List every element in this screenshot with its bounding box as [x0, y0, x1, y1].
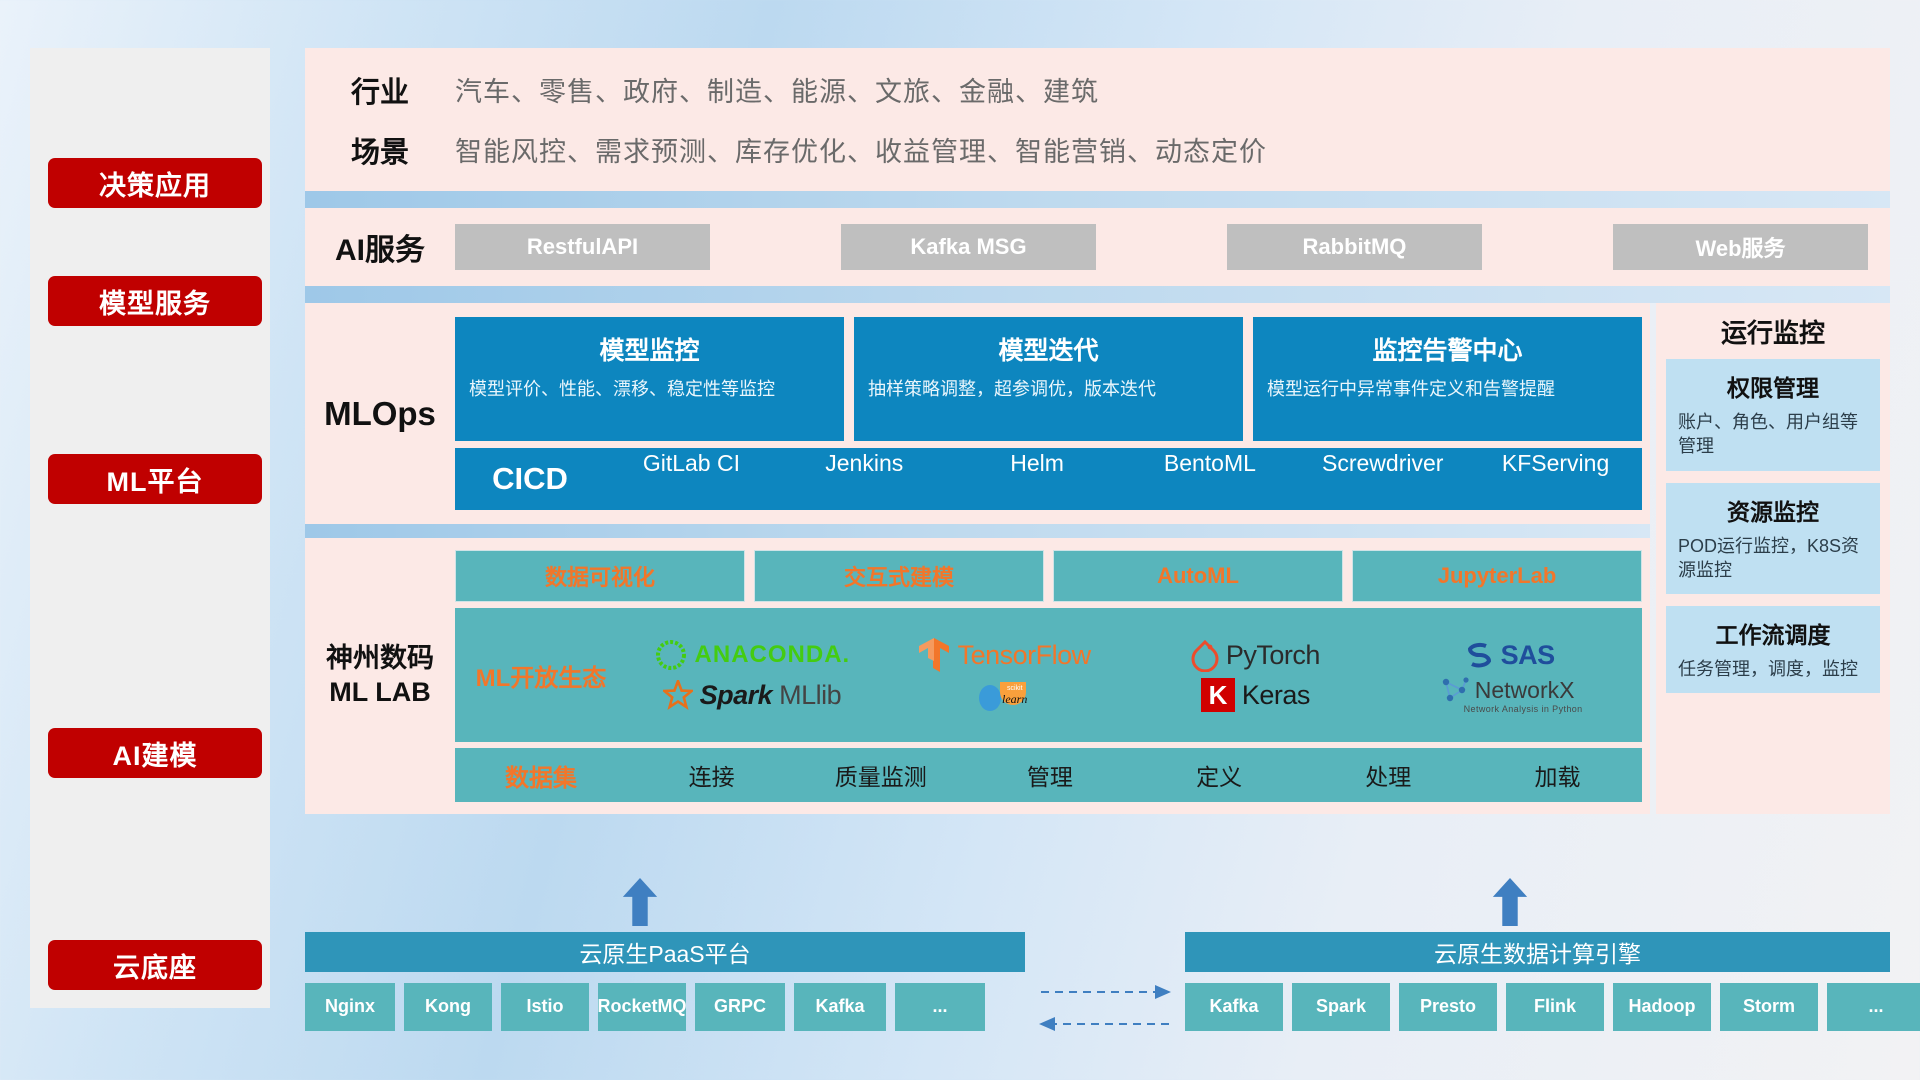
btn-label: RestfulAPI [527, 234, 638, 260]
ai-service-band: AI服务 RestfulAPI Kafka MSG RabbitMQ Web服务 [305, 208, 1890, 286]
svg-text:K: K [1208, 680, 1227, 710]
tensorflow-text: TensorFlow [958, 640, 1091, 671]
dataset-item-manage[interactable]: 管理 [965, 758, 1134, 792]
chip-spark[interactable]: Spark [1292, 983, 1390, 1031]
tab-label: AutoML [1157, 563, 1239, 589]
divider-blue-2 [305, 286, 1890, 303]
chip-kafka[interactable]: Kafka [794, 983, 886, 1031]
dataset-item-connect[interactable]: 连接 [627, 758, 796, 792]
svg-text:learn: learn [1002, 692, 1027, 706]
rail-ml-platform[interactable]: ML平台 [48, 454, 262, 504]
tab-jupyterlab[interactable]: JupyterLab [1352, 550, 1642, 602]
ml-lab-tabs: 数据可视化 交互式建模 AutoML JupyterLab [455, 550, 1642, 602]
industry-values: 汽车、零售、政府、制造、能源、文旅、金融、建筑 [455, 70, 1099, 109]
chip-istio[interactable]: Istio [501, 983, 589, 1031]
btn-label: Kafka MSG [910, 234, 1026, 260]
mlops-label: MLOps [305, 395, 455, 433]
card-desc: POD运行监控，K8S资源监控 [1678, 534, 1868, 583]
ai-service-kafka-msg[interactable]: Kafka MSG [841, 224, 1096, 270]
card-title: 监控告警中心 [1267, 331, 1628, 367]
bar-label: 云原生数据计算引擎 [1434, 935, 1641, 969]
card-title: 模型迭代 [868, 331, 1229, 367]
chip-label: Istio [526, 997, 563, 1017]
sas-logo: SAS [1460, 640, 1555, 671]
rail-model-service[interactable]: 模型服务 [48, 276, 262, 326]
card-desc: 任务管理，调度，监控 [1678, 657, 1868, 681]
card-title: 工作流调度 [1678, 616, 1868, 650]
chip-label: ... [1868, 997, 1883, 1017]
cicd-item-gitlab-ci[interactable]: GitLab CI [605, 449, 778, 509]
scikit-learn-logo: scikit learn [976, 676, 1032, 714]
card-desc: 抽样策略调整，超参调优，版本迭代 [868, 377, 1229, 401]
platform-split: MLOps 模型监控 模型评价、性能、漂移、稳定性等监控 模型迭代 抽样策略调整… [305, 303, 1890, 814]
divider-blue-3 [305, 524, 1650, 538]
chip-label: Kafka [815, 997, 864, 1017]
cicd-item-screwdriver[interactable]: Screwdriver [1296, 449, 1469, 509]
main-column: 行业 汽车、零售、政府、制造、能源、文旅、金融、建筑 场景 智能风控、需求预测、… [305, 48, 1890, 814]
chip-label: Spark [1316, 997, 1366, 1017]
monitor-card-workflow[interactable]: 工作流调度 任务管理，调度，监控 [1666, 606, 1880, 693]
industry-scenario-band: 行业 汽车、零售、政府、制造、能源、文旅、金融、建筑 场景 智能风控、需求预测、… [305, 48, 1890, 191]
pytorch-text: PyTorch [1226, 640, 1320, 671]
chip-more-right[interactable]: ... [1827, 983, 1920, 1031]
diagram-canvas: 决策应用 模型服务 ML平台 AI建模 云底座 行业 汽车、零售、政府、制造、能… [0, 0, 1920, 1080]
card-desc: 模型评价、性能、漂移、稳定性等监控 [469, 377, 830, 401]
ai-service-label: AI服务 [305, 225, 455, 269]
rail-label: 决策应用 [99, 164, 211, 203]
chip-label: Nginx [325, 997, 375, 1017]
monitor-card-permission[interactable]: 权限管理 账户、角色、用户组等管理 [1666, 359, 1880, 471]
btn-label: RabbitMQ [1303, 234, 1407, 260]
card-desc: 账户、角色、用户组等管理 [1678, 410, 1868, 459]
rail-ai-modeling[interactable]: AI建模 [48, 728, 262, 778]
mlops-card-model-iteration[interactable]: 模型迭代 抽样策略调整，超参调优，版本迭代 [854, 317, 1243, 441]
runtime-monitor-title: 运行监控 [1656, 303, 1890, 359]
chip-label: RocketMQ [598, 997, 687, 1017]
tab-interactive-modeling[interactable]: 交互式建模 [754, 550, 1044, 602]
bidirectional-link-icon [1035, 980, 1175, 1040]
chip-grpc[interactable]: GRPC [695, 983, 785, 1031]
keras-text: Keras [1242, 680, 1310, 711]
mlops-cards: 模型监控 模型评价、性能、漂移、稳定性等监控 模型迭代 抽样策略调整，超参调优，… [455, 317, 1642, 441]
spark-mllib-logo: Spark MLlib [663, 680, 842, 711]
cicd-label: CICD [455, 461, 605, 497]
industry-label: 行业 [305, 69, 455, 111]
pytorch-logo: PyTorch [1191, 638, 1320, 672]
anaconda-logo: ANACONDA. [654, 638, 851, 672]
monitor-card-resource[interactable]: 资源监控 POD运行监控，K8S资源监控 [1666, 483, 1880, 595]
cicd-item-kfserving[interactable]: KFServing [1469, 449, 1642, 509]
rail-label: 模型服务 [99, 282, 211, 321]
mlops-card-model-monitoring[interactable]: 模型监控 模型评价、性能、漂移、稳定性等监控 [455, 317, 844, 441]
dataset-items: 连接 质量监测 管理 定义 处理 加载 [627, 758, 1642, 792]
ml-lab-body: 数据可视化 交互式建模 AutoML JupyterLab ML开放生态 [455, 550, 1650, 802]
platform-left: MLOps 模型监控 模型评价、性能、漂移、稳定性等监控 模型迭代 抽样策略调整… [305, 303, 1650, 814]
keras-logo: K Keras [1201, 678, 1310, 712]
card-title: 资源监控 [1678, 493, 1868, 527]
cicd-row: CICD GitLab CI Jenkins Helm BentoML Scre… [455, 448, 1642, 510]
scenario-label: 场景 [305, 129, 455, 171]
runtime-monitor-panel: 运行监控 权限管理 账户、角色、用户组等管理 资源监控 POD运行监控，K8S资… [1656, 303, 1890, 814]
paas-chips: Nginx Kong Istio RocketMQ GRPC Kafka ... [305, 983, 985, 1031]
chip-storm[interactable]: Storm [1720, 983, 1818, 1031]
tensorflow-icon [917, 636, 951, 674]
ai-service-rabbitmq[interactable]: RabbitMQ [1227, 224, 1482, 270]
ml-lab-label: 神州数码 ML LAB [305, 642, 455, 710]
mlops-band: MLOps 模型监控 模型评价、性能、漂移、稳定性等监控 模型迭代 抽样策略调整… [305, 303, 1650, 524]
chip-label: ... [932, 997, 947, 1017]
ecosystem-label: ML开放生态 [455, 658, 627, 693]
rail-decision-app[interactable]: 决策应用 [48, 158, 262, 208]
ml-lab-label-line2: ML LAB [305, 676, 455, 710]
mllib-text: MLlib [779, 680, 841, 711]
engine-chips: Kafka Spark Presto Flink Hadoop Storm ..… [1185, 983, 1920, 1031]
cicd-item-helm[interactable]: Helm [951, 449, 1124, 509]
ai-service-buttons: RestfulAPI Kafka MSG RabbitMQ Web服务 [455, 224, 1890, 270]
chip-hadoop[interactable]: Hadoop [1613, 983, 1711, 1031]
tab-label: 数据可视化 [545, 560, 655, 592]
btn-label: Web服务 [1695, 231, 1785, 263]
dataset-item-quality[interactable]: 质量监测 [796, 758, 965, 792]
ai-service-restfulapi[interactable]: RestfulAPI [455, 224, 710, 270]
spark-star-icon [663, 680, 693, 710]
networkx-icon [1440, 676, 1470, 704]
cicd-item-jenkins[interactable]: Jenkins [778, 449, 951, 509]
cloud-base-section: 云原生PaaS平台 云原生数据计算引擎 Nginx Kong Istio Roc… [305, 890, 1890, 1040]
dataset-item-define[interactable]: 定义 [1135, 758, 1304, 792]
pytorch-icon [1191, 638, 1219, 672]
mlops-card-alert-center[interactable]: 监控告警中心 模型运行中异常事件定义和告警提醒 [1253, 317, 1642, 441]
cicd-items: GitLab CI Jenkins Helm BentoML Screwdriv… [605, 449, 1642, 509]
chip-label: Kong [425, 997, 471, 1017]
spark-text: Spark [700, 680, 773, 711]
arrow-up-paas-icon [620, 878, 660, 926]
arrow-up-engine-icon [1490, 878, 1530, 926]
networkx-text: NetworkX [1475, 677, 1575, 704]
ml-lab-band: 神州数码 ML LAB 数据可视化 交互式建模 AutoML JupyterLa… [305, 538, 1650, 814]
rail-label: AI建模 [113, 734, 198, 773]
chip-more-left[interactable]: ... [895, 983, 985, 1031]
rail-cloud-base[interactable]: 云底座 [48, 940, 262, 990]
ai-service-web[interactable]: Web服务 [1613, 224, 1868, 270]
bar-label: 云原生PaaS平台 [579, 935, 750, 969]
card-title: 权限管理 [1678, 369, 1868, 403]
sas-text: SAS [1501, 640, 1555, 671]
ml-lab-label-line1: 神州数码 [305, 642, 455, 676]
anaconda-icon [654, 638, 688, 672]
dataset-item-process[interactable]: 处理 [1304, 758, 1473, 792]
tab-label: 交互式建模 [844, 560, 954, 592]
data-compute-engine-bar[interactable]: 云原生数据计算引擎 [1185, 932, 1890, 972]
tensorflow-logo: TensorFlow [917, 636, 1091, 674]
paas-platform-bar[interactable]: 云原生PaaS平台 [305, 932, 1025, 972]
mlops-body: 模型监控 模型评价、性能、漂移、稳定性等监控 模型迭代 抽样策略调整，超参调优，… [455, 317, 1650, 510]
tab-data-visualization[interactable]: 数据可视化 [455, 550, 745, 602]
card-desc: 模型运行中异常事件定义和告警提醒 [1267, 377, 1628, 401]
rail-label: ML平台 [107, 460, 204, 499]
chip-nginx[interactable]: Nginx [305, 983, 395, 1031]
ecosystem-logos: ANACONDA. TensorFlow [627, 636, 1642, 714]
scikit-learn-icon: scikit learn [976, 676, 1032, 714]
scenario-row: 场景 智能风控、需求预测、库存优化、收益管理、智能营销、动态定价 [305, 129, 1890, 171]
dataset-item-load[interactable]: 加载 [1473, 758, 1642, 792]
cicd-item-bentoml[interactable]: BentoML [1123, 449, 1296, 509]
rail-label: 云底座 [113, 946, 197, 985]
dataset-row: 数据集 连接 质量监测 管理 定义 处理 加载 [455, 748, 1642, 802]
chip-rocketmq[interactable]: RocketMQ [598, 983, 686, 1031]
ml-open-ecosystem: ML开放生态 ANACONDA. [455, 608, 1642, 742]
keras-icon: K [1201, 678, 1235, 712]
dataset-label: 数据集 [455, 758, 627, 793]
chip-label: GRPC [714, 997, 766, 1017]
tab-label: JupyterLab [1438, 563, 1557, 589]
left-rail: 决策应用 模型服务 ML平台 AI建模 [30, 48, 270, 1008]
chip-flink[interactable]: Flink [1506, 983, 1604, 1031]
chip-kong[interactable]: Kong [404, 983, 492, 1031]
tab-automl[interactable]: AutoML [1053, 550, 1343, 602]
anaconda-text: ANACONDA. [695, 641, 851, 669]
card-title: 模型监控 [469, 331, 830, 367]
industry-row: 行业 汽车、零售、政府、制造、能源、文旅、金融、建筑 [305, 69, 1890, 111]
chip-label: Hadoop [1629, 997, 1696, 1017]
chip-label: Storm [1743, 997, 1795, 1017]
networkx-subtitle: Network Analysis in Python [1464, 704, 1583, 714]
chip-label: Kafka [1209, 997, 1258, 1017]
divider-blue [305, 191, 1890, 208]
chip-kafka-right[interactable]: Kafka [1185, 983, 1283, 1031]
chip-label: Flink [1534, 997, 1576, 1017]
chip-label: Presto [1420, 997, 1476, 1017]
scenario-values: 智能风控、需求预测、库存优化、收益管理、智能营销、动态定价 [455, 130, 1267, 169]
networkx-logo: NetworkX Network Analysis in Python [1432, 676, 1583, 714]
chip-presto[interactable]: Presto [1399, 983, 1497, 1031]
sas-icon [1460, 640, 1494, 670]
svg-text:scikit: scikit [1007, 685, 1023, 692]
